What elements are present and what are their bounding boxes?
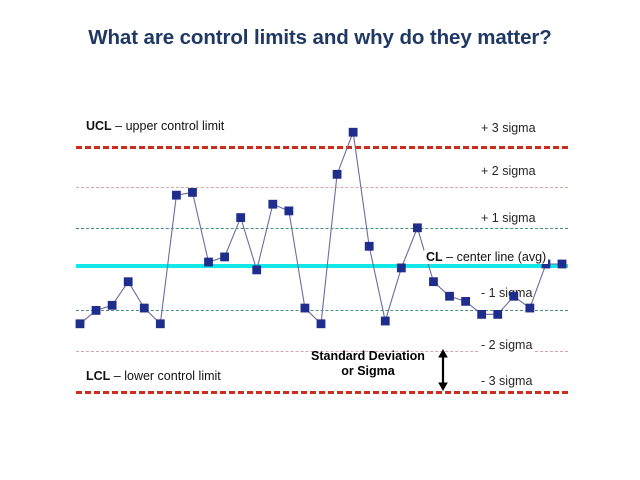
data-point-marker	[76, 319, 85, 328]
data-point-marker	[365, 242, 374, 251]
data-point-marker	[381, 317, 390, 326]
data-point-marker	[236, 213, 245, 222]
data-point-marker	[461, 297, 470, 306]
data-point-marker	[349, 128, 358, 137]
slide-canvas: What are control limits and why do they …	[0, 0, 640, 480]
lcl-callout: LCL – lower control limit	[84, 369, 223, 383]
data-point-marker	[301, 304, 310, 313]
data-point-marker	[92, 306, 101, 315]
series-plot	[0, 0, 640, 480]
ucl-description: – upper control limit	[112, 119, 225, 133]
ucl-callout: UCL – upper control limit	[84, 119, 226, 133]
data-point-marker	[188, 188, 197, 197]
data-point-marker	[509, 292, 518, 301]
cl-callout: CL – center line (avg)	[424, 250, 548, 264]
data-point-marker	[156, 319, 165, 328]
control-chart: + 3 sigma + 2 sigma + 1 sigma - 1 sigma …	[0, 0, 640, 480]
data-point-marker	[397, 264, 406, 273]
data-point-marker	[108, 301, 117, 310]
data-point-marker	[220, 253, 229, 262]
ucl-abbr: UCL	[86, 119, 112, 133]
data-point-marker	[525, 304, 534, 313]
data-point-marker	[477, 310, 486, 319]
lcl-abbr: LCL	[86, 369, 110, 383]
lcl-description: – lower control limit	[110, 369, 220, 383]
data-point-marker	[172, 191, 181, 200]
cl-description: – center line (avg)	[443, 250, 547, 264]
data-point-marker	[284, 207, 293, 216]
data-point-marker	[317, 319, 326, 328]
data-point-marker	[493, 310, 502, 319]
data-point-marker	[429, 277, 438, 286]
standard-deviation-line1: Standard Deviation	[298, 349, 438, 364]
data-point-marker	[413, 223, 422, 232]
cl-abbr: CL	[426, 250, 443, 264]
data-point-marker	[445, 292, 454, 301]
standard-deviation-annotation: Standard Deviation or Sigma	[298, 349, 438, 379]
data-point-marker	[204, 258, 213, 267]
data-point-marker	[558, 260, 567, 269]
double-headed-arrow-icon	[432, 349, 454, 391]
data-point-marker	[140, 304, 149, 313]
series-connector-line	[80, 132, 562, 324]
data-point-marker	[124, 277, 133, 286]
standard-deviation-line2: or Sigma	[298, 364, 438, 379]
data-point-marker	[268, 200, 277, 209]
data-point-marker	[252, 266, 261, 275]
data-point-marker	[333, 170, 342, 179]
